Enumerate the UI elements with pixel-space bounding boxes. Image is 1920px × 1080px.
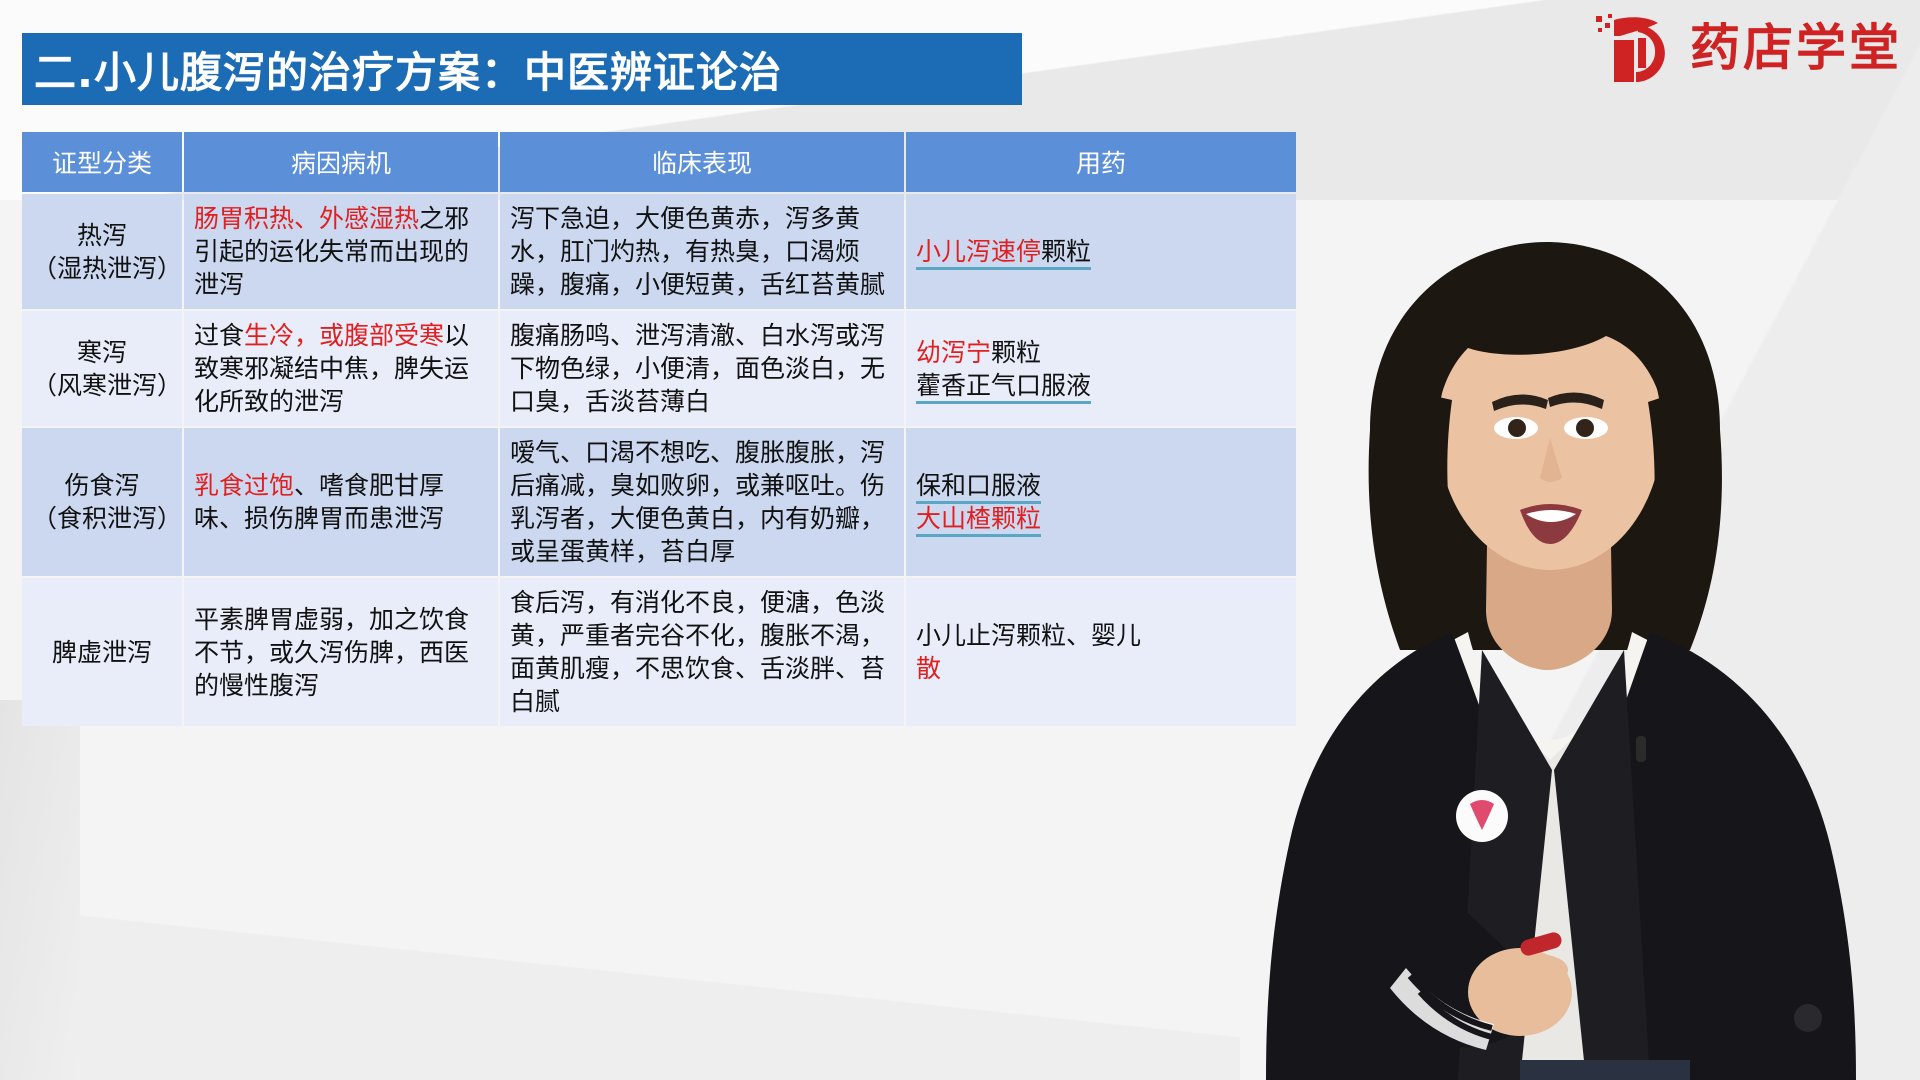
medication-item: 小儿止泻颗粒、婴儿 — [916, 619, 1286, 652]
medication-label: 小儿止泻颗粒、婴儿 — [916, 621, 1141, 650]
medication-item: 大山楂颗粒 — [916, 502, 1286, 535]
cell-etiology: 过食生冷，或腹部受寒以致寒邪凝结中焦，脾失运化所致的泄泻 — [184, 311, 498, 426]
cell-medication: 幼泻宁颗粒藿香正气口服液 — [906, 311, 1296, 426]
slide-title-bar: 二.小儿腹泻的治疗方案：中医辨证论治 — [22, 33, 1022, 105]
etiology-highlight: 生冷，或腹部受寒 — [244, 321, 444, 350]
cell-syndrome-type: 脾虚泄泻 — [22, 578, 182, 726]
medication-highlight: 大山楂颗粒 — [916, 504, 1041, 533]
cell-etiology: 乳食过饱、嗜食肥甘厚味、损伤脾胃而患泄泻 — [184, 428, 498, 576]
syndrome-type-main: 热泻 — [32, 219, 172, 252]
slide-canvas: 药店学堂 二.小儿腹泻的治疗方案：中医辨证论治 证型分类 病因病机 临床表现 用… — [0, 0, 1920, 1080]
brand-wordmark: 药店学堂 — [1690, 23, 1902, 73]
table-header-row: 证型分类 病因病机 临床表现 用药 — [22, 132, 1296, 192]
medication-item: 小儿泻速停颗粒 — [916, 235, 1286, 268]
medication-label: 幼泻宁颗粒 — [916, 338, 1041, 367]
medication-label: 小儿泻速停颗粒 — [916, 237, 1091, 270]
table-body: 热泻（湿热泄泻）肠胃积热、外感湿热之邪引起的运化失常而出现的泄泻泻下急迫，大便色… — [22, 194, 1296, 726]
brand-logo: 药店学堂 — [1594, 10, 1902, 86]
table-row: 脾虚泄泻平素脾胃虚弱，加之饮食不节，或久泻伤脾，西医的慢性腹泻食后泻，有消化不良… — [22, 578, 1296, 726]
medication-text: 小儿止泻颗粒、婴儿 — [916, 621, 1141, 650]
syndrome-table: 证型分类 病因病机 临床表现 用药 热泻（湿热泄泻）肠胃积热、外感湿热之邪引起的… — [20, 130, 1298, 728]
cell-syndrome-type: 热泻（湿热泄泻） — [22, 194, 182, 309]
medication-item: 藿香正气口服液 — [916, 369, 1286, 402]
presenter-video-overlay — [1220, 180, 1920, 1080]
medication-label: 散 — [916, 654, 941, 683]
medication-label: 保和口服液 — [916, 471, 1041, 504]
page-title: 二.小儿腹泻的治疗方案：中医辨证论治 — [22, 39, 782, 100]
medication-highlight: 幼泻宁 — [916, 338, 991, 367]
syndrome-type-main: 伤食泻 — [32, 469, 172, 502]
cell-etiology: 肠胃积热、外感湿热之邪引起的运化失常而出现的泄泻 — [184, 194, 498, 309]
cell-syndrome-type: 伤食泻（食积泄泻） — [22, 428, 182, 576]
brand-mark-icon — [1594, 10, 1680, 86]
medication-text: 颗粒 — [1041, 237, 1091, 266]
medication-highlight: 散 — [916, 654, 941, 683]
table-row: 热泻（湿热泄泻）肠胃积热、外感湿热之邪引起的运化失常而出现的泄泻泻下急迫，大便色… — [22, 194, 1296, 309]
cell-clinical-manifestations: 腹痛肠鸣、泄泻清澈、白水泻或泻下物色绿，小便清，面色淡白，无口臭，舌淡苔薄白 — [500, 311, 904, 426]
table-row: 伤食泻（食积泄泻）乳食过饱、嗜食肥甘厚味、损伤脾胃而患泄泻嗳气、口渴不想吃、腹胀… — [22, 428, 1296, 576]
syndrome-type-sub: （湿热泄泻） — [32, 252, 172, 285]
syndrome-type-main: 脾虚泄泻 — [32, 636, 172, 669]
table-row: 寒泻（风寒泄泻）过食生冷，或腹部受寒以致寒邪凝结中焦，脾失运化所致的泄泻腹痛肠鸣… — [22, 311, 1296, 426]
cell-clinical-manifestations: 泻下急迫，大便色黄赤，泻多黄水，肛门灼热，有热臭，口渴烦躁，腹痛，小便短黄，舌红… — [500, 194, 904, 309]
column-header-medication: 用药 — [906, 132, 1296, 192]
medication-item: 幼泻宁颗粒 — [916, 336, 1286, 369]
etiology-highlight: 肠胃积热、外感湿热 — [194, 204, 419, 233]
medication-highlight: 小儿泻速停 — [916, 237, 1041, 266]
column-header-clinical-manifestations: 临床表现 — [500, 132, 904, 192]
medication-text: 保和口服液 — [916, 471, 1041, 500]
cell-medication: 小儿泻速停颗粒 — [906, 194, 1296, 309]
cell-etiology: 平素脾胃虚弱，加之饮食不节，或久泻伤脾，西医的慢性腹泻 — [184, 578, 498, 726]
column-header-syndrome-type: 证型分类 — [22, 132, 182, 192]
syndrome-type-sub: （食积泄泻） — [32, 502, 172, 535]
cell-clinical-manifestations: 嗳气、口渴不想吃、腹胀腹胀，泻后痛减，臭如败卵，或兼呕吐。伤乳泻者，大便色黄白，… — [500, 428, 904, 576]
etiology-prefix: 过食 — [194, 321, 244, 350]
syndrome-type-sub: （风寒泄泻） — [32, 369, 172, 402]
medication-item: 散 — [916, 652, 1286, 685]
syndrome-type-main: 寒泻 — [32, 336, 172, 369]
syndrome-table-container: 证型分类 病因病机 临床表现 用药 热泻（湿热泄泻）肠胃积热、外感湿热之邪引起的… — [20, 130, 1288, 728]
cell-syndrome-type: 寒泻（风寒泄泻） — [22, 311, 182, 426]
background-shape-bottom — [0, 780, 1240, 1080]
cell-clinical-manifestations: 食后泻，有消化不良，便溏，色淡黄，严重者完谷不化，腹胀不渴，面黄肌瘦，不思饮食、… — [500, 578, 904, 726]
cell-medication: 保和口服液大山楂颗粒 — [906, 428, 1296, 576]
medication-label: 大山楂颗粒 — [916, 504, 1041, 537]
medication-item: 保和口服液 — [916, 469, 1286, 502]
medication-label: 藿香正气口服液 — [916, 371, 1091, 404]
etiology-highlight: 乳食过饱 — [194, 471, 294, 500]
cell-medication: 小儿止泻颗粒、婴儿散 — [906, 578, 1296, 726]
medication-text: 颗粒 — [991, 338, 1041, 367]
etiology-text: 平素脾胃虚弱，加之饮食不节，或久泻伤脾，西医的慢性腹泻 — [194, 605, 469, 700]
background-shape-left — [0, 700, 80, 1080]
medication-text: 藿香正气口服液 — [916, 371, 1091, 400]
column-header-etiology: 病因病机 — [184, 132, 498, 192]
